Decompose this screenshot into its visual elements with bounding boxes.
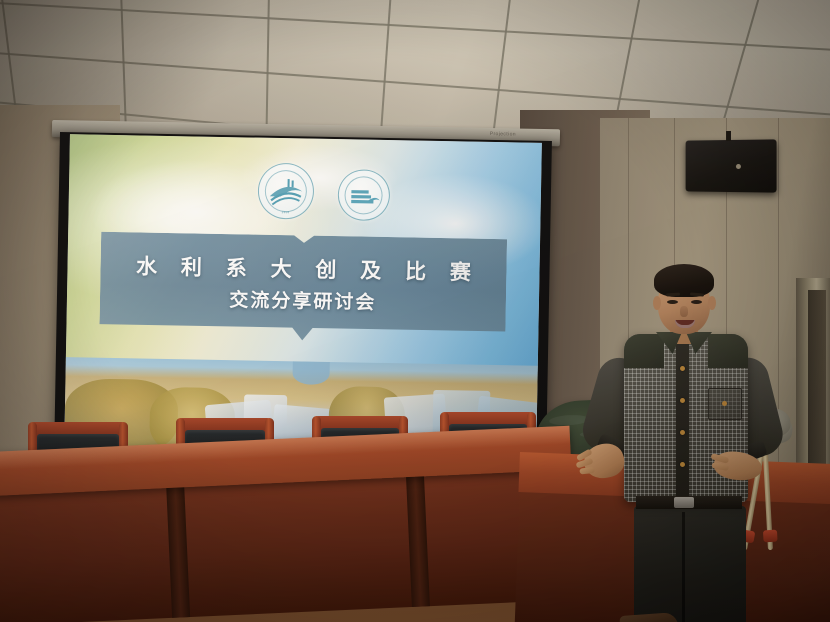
emblem-year-label: 1958 (282, 210, 290, 214)
ceiling (0, 0, 830, 132)
presenter-shoe (619, 612, 678, 622)
slide-title-line2: 交流分享研讨会 (229, 286, 376, 316)
presentation-room-photo: Projection (0, 0, 830, 622)
housing-brand-label: Projection (490, 131, 516, 137)
presenter (596, 262, 786, 622)
belt-buckle (674, 497, 694, 508)
department-emblem-icon (337, 169, 389, 221)
university-emblem-icon: 1958 (257, 163, 314, 220)
presenter-trousers (634, 506, 746, 622)
slide-title-line1: 水 利 系 大 创 及 比 赛 (136, 251, 480, 287)
ceiling-speaker-icon (686, 139, 777, 192)
presenter-hair (654, 264, 714, 297)
ceiling-shadow (0, 0, 830, 132)
